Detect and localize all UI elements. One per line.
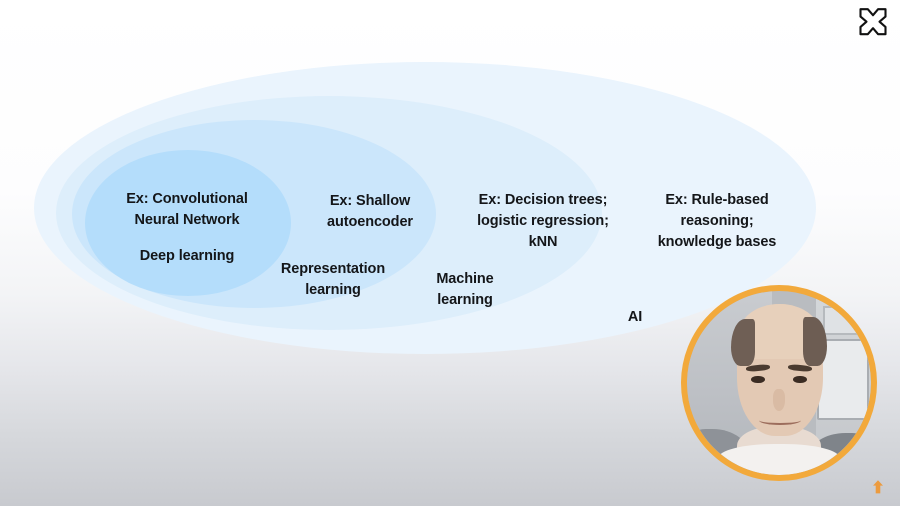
ai-examples-label: Ex: Rule-based reasoning; knowledge base… (632, 190, 802, 253)
machine-learning-examples-label: Ex: Decision trees; logistic regression;… (450, 190, 636, 253)
presenter-shirt (718, 444, 839, 475)
presenter-nose (773, 389, 786, 411)
orange-arrow-up-icon (869, 478, 887, 496)
background-shelf (823, 306, 867, 336)
representation-learning-name-label: Representation learning (262, 259, 404, 301)
machine-learning-name-label: Machine learning (404, 269, 526, 311)
x-monogram-logo-icon (855, 5, 891, 41)
slide-canvas: Ex: Convolutional Neural Network Deep le… (0, 0, 900, 506)
deep-learning-examples-label: Ex: Convolutional Neural Network (104, 189, 270, 231)
ai-name-label: AI (606, 307, 664, 328)
presenter-video-frame (687, 291, 871, 475)
presenter-video-bubble[interactable] (681, 285, 877, 481)
deep-learning-name-label: Deep learning (104, 246, 270, 267)
presenter-eye-right (793, 376, 807, 384)
presenter-hair-left (731, 319, 755, 367)
representation-learning-examples-label: Ex: Shallow autoencoder (290, 191, 450, 233)
